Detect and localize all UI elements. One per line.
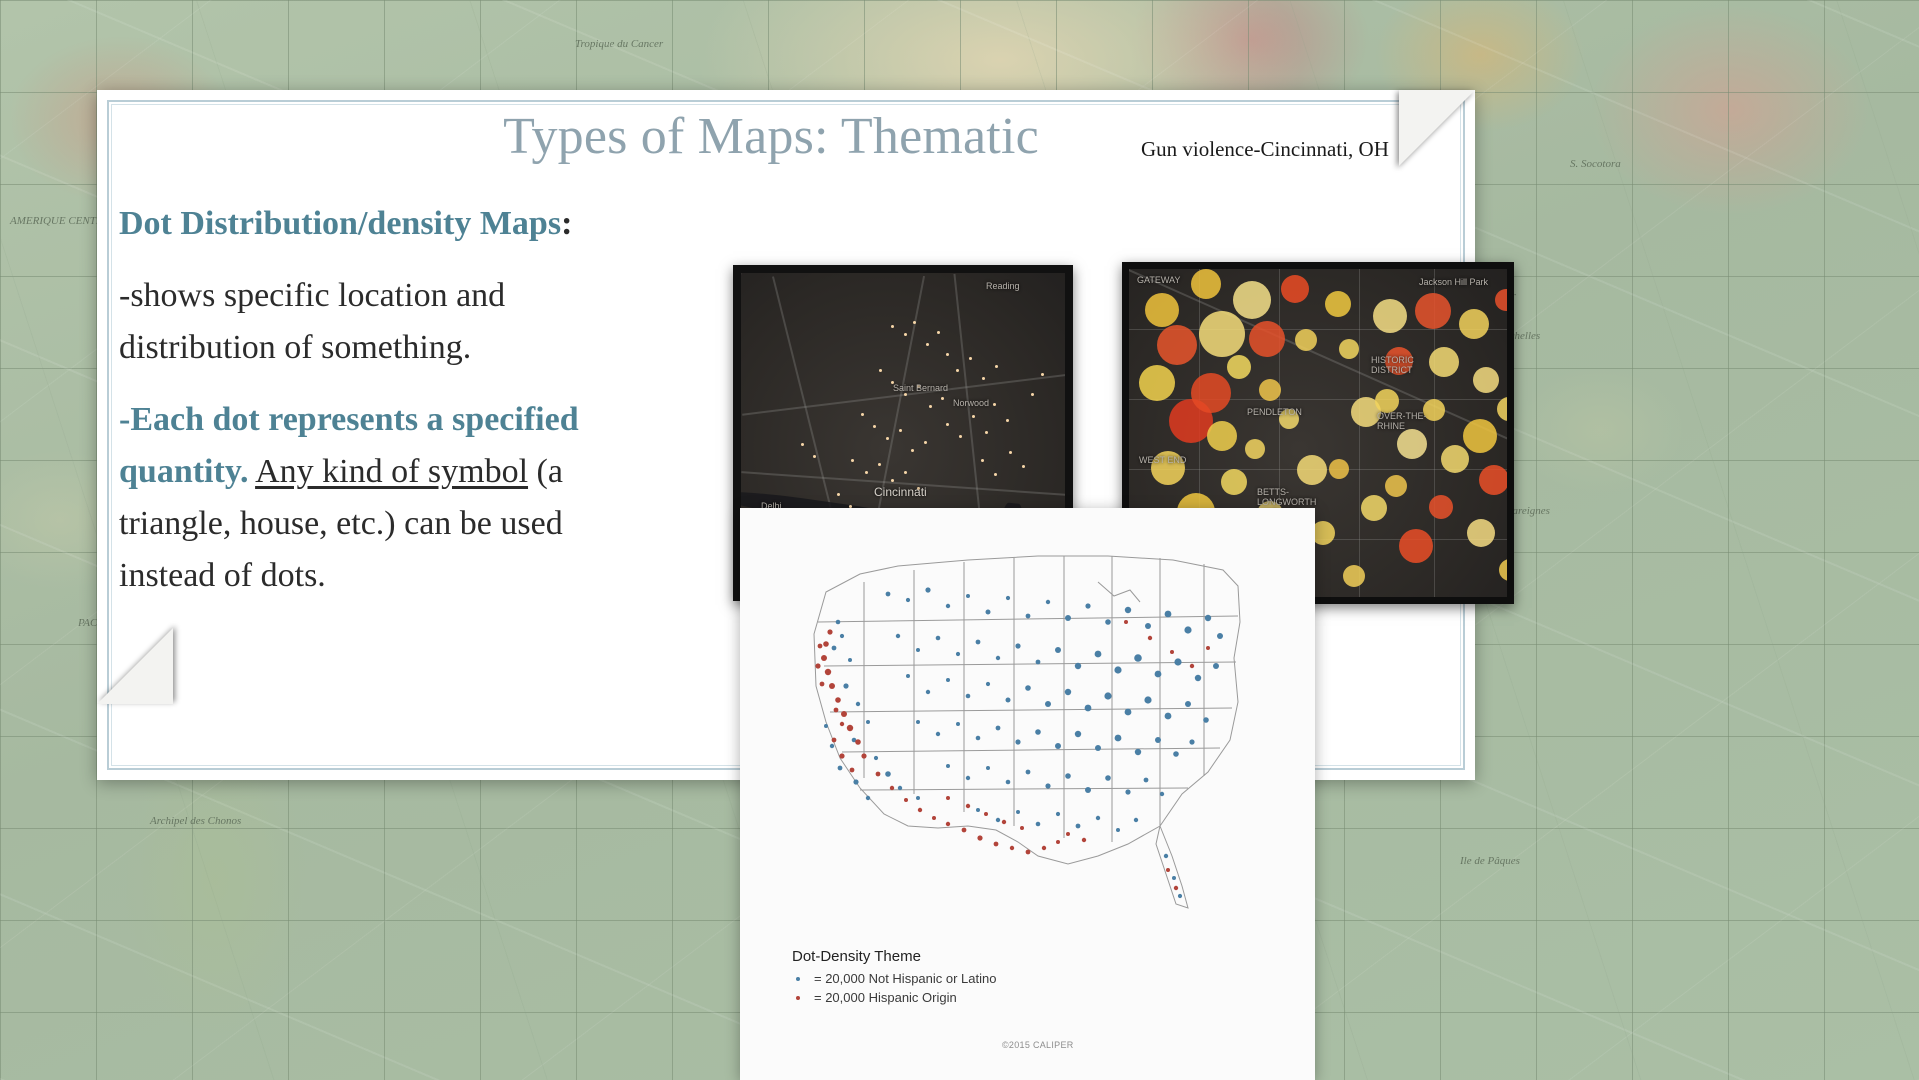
body-paragraph-2: -Each dot represents a specified quantit… xyxy=(119,394,629,602)
dot-density-points xyxy=(768,526,1288,926)
us-map-credit: ©2015 CALIPER xyxy=(1002,1040,1074,1050)
legend-item-not-hispanic: = 20,000 Not Hispanic or Latino xyxy=(792,971,996,986)
legend-swatch-red-icon xyxy=(796,996,800,1000)
body-heading-text: Dot Distribution/density Maps xyxy=(119,205,561,242)
body-paragraph-1: -shows specific location and distributio… xyxy=(119,270,629,374)
background-caption: Archipel des Chonos xyxy=(150,815,241,827)
legend-title: Dot-Density Theme xyxy=(792,948,996,965)
background-caption: S. Socotora xyxy=(1570,158,1621,170)
map-label-historic-district: HISTORICDISTRICT xyxy=(1371,355,1414,375)
slide-root: Tropique du CancerEquateurAMERIQUE CENTR… xyxy=(0,0,1919,1080)
map-label-pendleton: PENDLETON xyxy=(1247,407,1302,417)
image-caption: Gun violence-Cincinnati, OH xyxy=(1141,137,1389,162)
us-map-legend: Dot-Density Theme = 20,000 Not Hispanic … xyxy=(792,948,996,1005)
legend-item-hispanic-text: = 20,000 Hispanic Origin xyxy=(814,990,957,1005)
map-label-over-the-rhine: OVER-THE-RHINE xyxy=(1377,411,1427,431)
body-heading: Dot Distribution/density Maps: xyxy=(119,198,629,250)
body-text-column: Dot Distribution/density Maps: -shows sp… xyxy=(119,198,629,602)
map-label-jackson-hill-park: Jackson Hill Park xyxy=(1419,277,1488,287)
body-heading-colon: : xyxy=(561,205,572,242)
corner-fold-top-right xyxy=(1399,90,1475,166)
map-label-cincinnati: Cincinnati xyxy=(874,485,927,499)
background-caption: Tropique du Cancer xyxy=(575,38,663,50)
background-caption: Ile de Pâques xyxy=(1460,855,1520,867)
legend-item-hispanic: = 20,000 Hispanic Origin xyxy=(792,990,996,1005)
map-label-norwood: Norwood xyxy=(953,398,989,408)
map-label-west-end: WEST END xyxy=(1139,455,1186,465)
map-label-saint-bernard: Saint Bernard xyxy=(893,383,948,393)
map-label-gateway: GATEWAY xyxy=(1137,275,1180,285)
legend-swatch-blue-icon xyxy=(796,977,800,981)
map-label-reading: Reading xyxy=(986,281,1020,291)
us-dot-density-map-image: Dot-Density Theme = 20,000 Not Hispanic … xyxy=(740,508,1315,1080)
body-paragraph-2-underlined: Any kind of symbol xyxy=(255,453,528,490)
legend-item-not-hispanic-text: = 20,000 Not Hispanic or Latino xyxy=(814,971,996,986)
